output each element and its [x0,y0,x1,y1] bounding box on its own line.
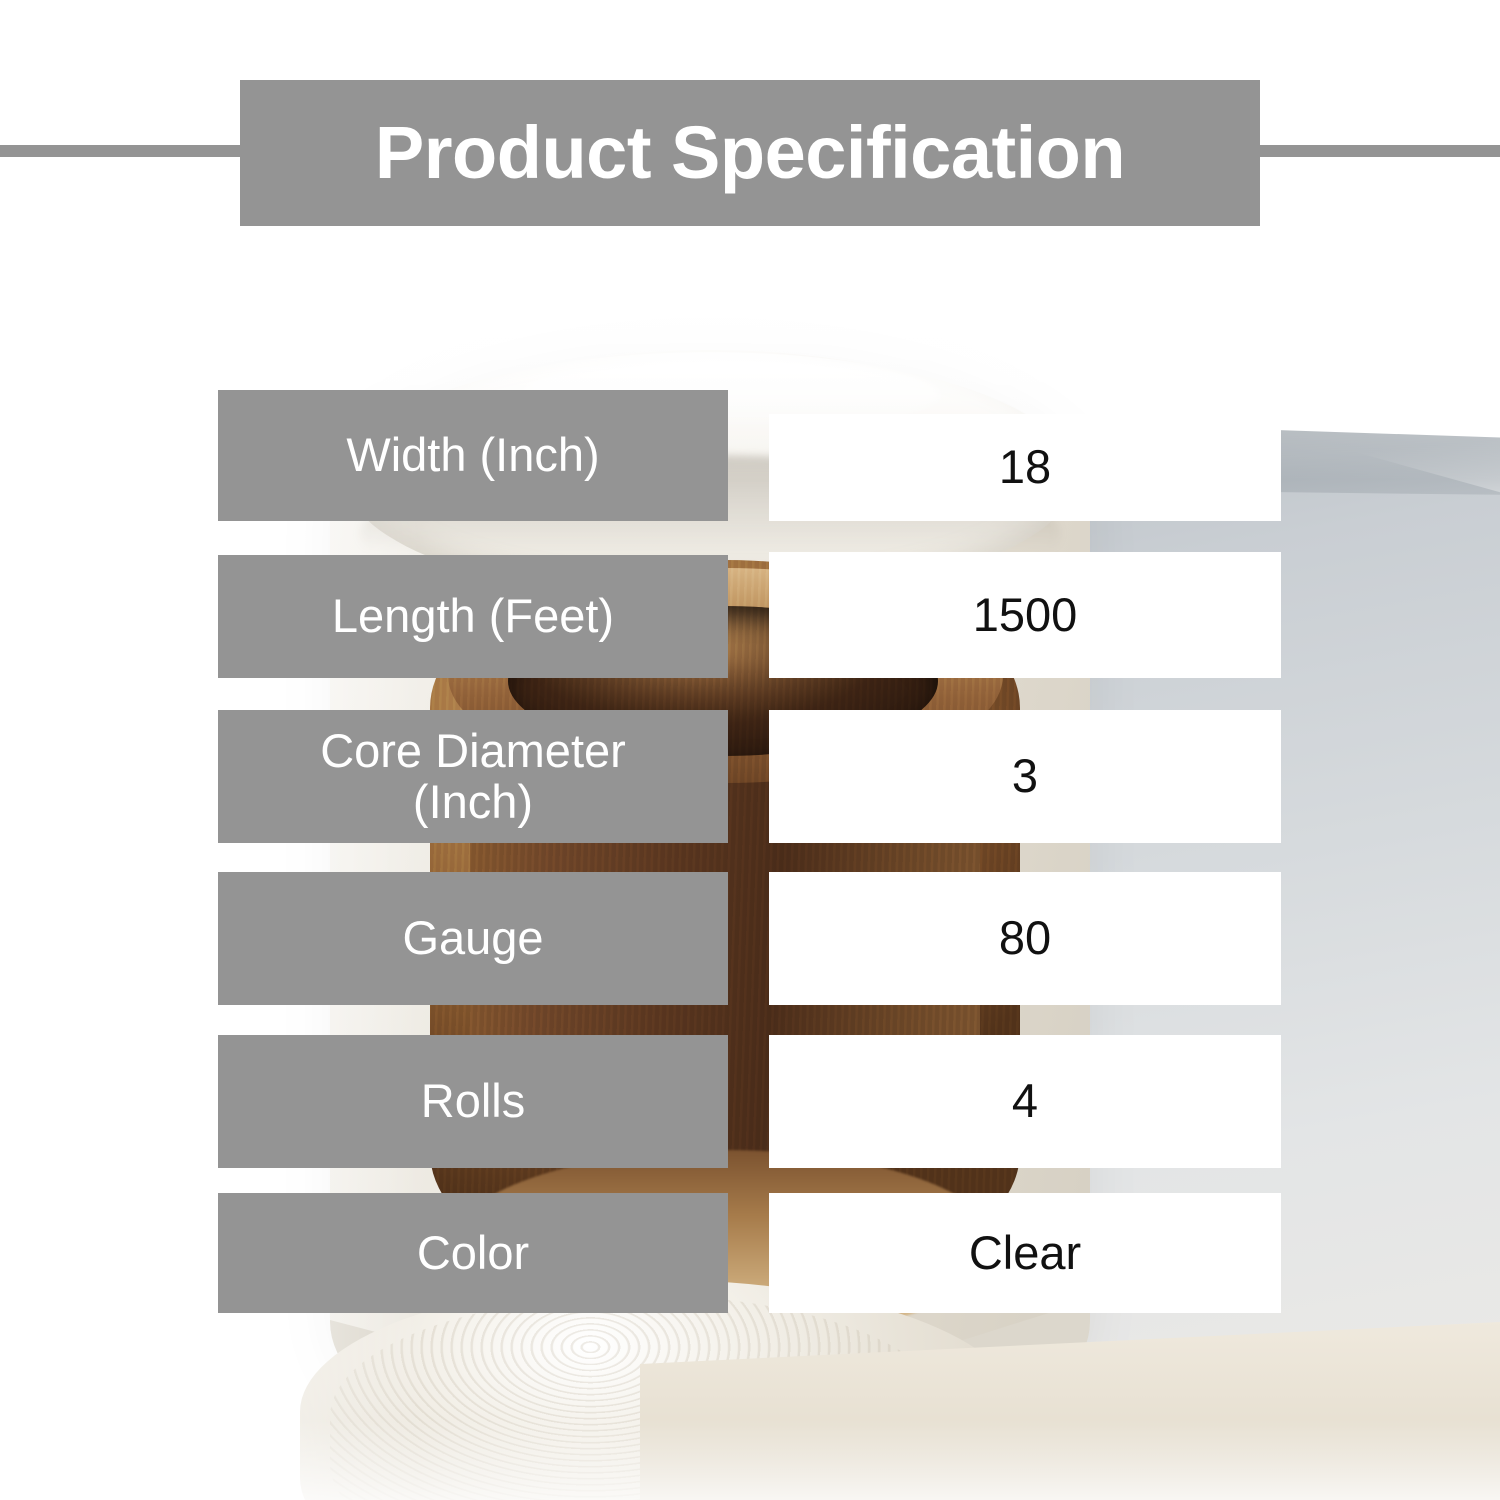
spec-label-gauge: Gauge [218,872,728,1005]
spec-label-length: Length (Feet) [218,555,728,678]
spec-label-core-diameter-line1: Core Diameter [320,726,626,777]
spec-label-width: Width (Inch) [218,390,728,521]
spec-value-length: 1500 [769,552,1281,678]
spec-label-core-diameter: Core Diameter (Inch) [218,710,728,843]
spec-value-width: 18 [769,414,1281,521]
spec-label-core-diameter-line2: (Inch) [413,777,533,828]
spec-sheet-canvas: Product Specification Width (Inch) 18 Le… [0,0,1500,1500]
specification-table: Width (Inch) 18 Length (Feet) 1500 Core … [0,0,1500,1500]
spec-value-gauge: 80 [769,872,1281,1005]
spec-label-rolls: Rolls [218,1035,728,1168]
spec-value-color: Clear [769,1193,1281,1313]
spec-value-rolls: 4 [769,1035,1281,1168]
spec-value-core-diameter: 3 [769,710,1281,843]
spec-label-color: Color [218,1193,728,1313]
